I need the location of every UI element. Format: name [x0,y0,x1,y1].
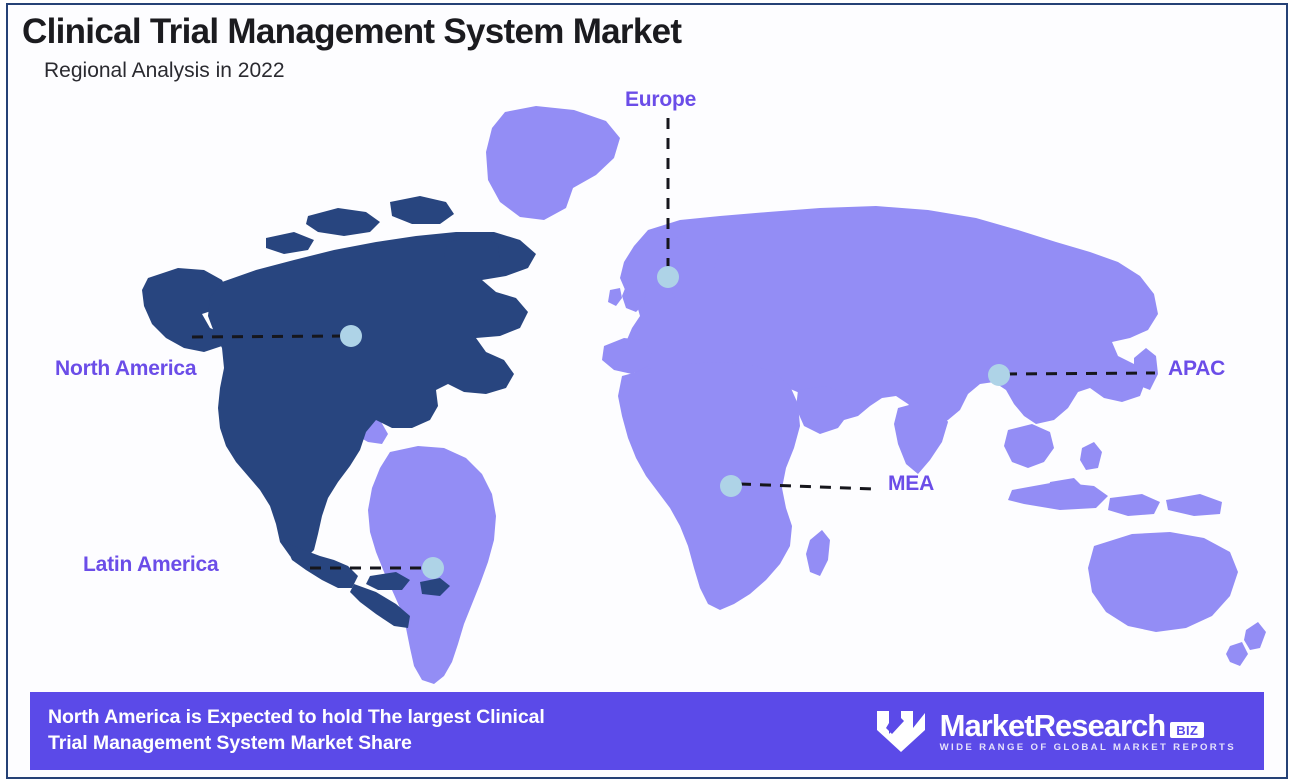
footer-headline-line1: North America is Expected to hold The la… [48,705,545,731]
region-mexico [284,542,358,588]
logo-biz-badge: BIZ [1170,722,1204,738]
region-new-zealand-south [1226,642,1248,666]
region-arctic-islands-2 [390,196,454,224]
footer-headline: North America is Expected to hold The la… [48,705,545,757]
region-arabia [796,386,850,434]
world-map [8,90,1286,690]
region-indonesia-2 [1108,494,1160,516]
region-australia [1088,532,1238,632]
footer-headline-line2: Trial Management System Market Share [48,731,545,757]
region-label-north-america[interactable]: North America [55,358,196,379]
region-new-guinea [1166,494,1222,516]
page-title: Clinical Trial Management System Market [22,12,1252,51]
region-india [894,402,948,474]
region-greenland [486,106,620,220]
world-map-svg [8,90,1286,690]
logo-word-row: MarketResearch BIZ [940,710,1236,741]
logo-text: MarketResearch BIZ WIDE RANGE OF GLOBAL … [940,710,1236,753]
region-philippines [1080,442,1102,470]
region-new-zealand [1244,622,1266,650]
brand-logo[interactable]: MarketResearch BIZ WIDE RANGE OF GLOBAL … [875,708,1236,754]
logo-wordmark: MarketResearch [940,710,1166,741]
logo-tagline: WIDE RANGE OF GLOBAL MARKET REPORTS [940,743,1236,753]
region-south-america [368,446,496,684]
region-southeast-asia [1004,424,1054,468]
region-arctic-islands-3 [266,232,314,254]
header: Clinical Trial Management System Market … [22,12,1252,82]
region-label-mea[interactable]: MEA [888,473,934,494]
region-label-apac[interactable]: APAC [1168,358,1225,379]
checkmark-shield-icon [875,708,927,754]
region-africa [618,362,800,610]
region-ireland [608,288,622,306]
region-madagascar [806,530,830,576]
footer-banner: North America is Expected to hold The la… [30,692,1264,770]
region-label-latin-america[interactable]: Latin America [83,554,219,575]
region-arctic-islands-1 [306,208,380,236]
map-base-continents [334,106,1266,684]
page-subtitle: Regional Analysis in 2022 [44,59,1252,82]
infographic-root: Clinical Trial Management System Market … [0,0,1294,782]
region-label-europe[interactable]: Europe [625,89,696,110]
